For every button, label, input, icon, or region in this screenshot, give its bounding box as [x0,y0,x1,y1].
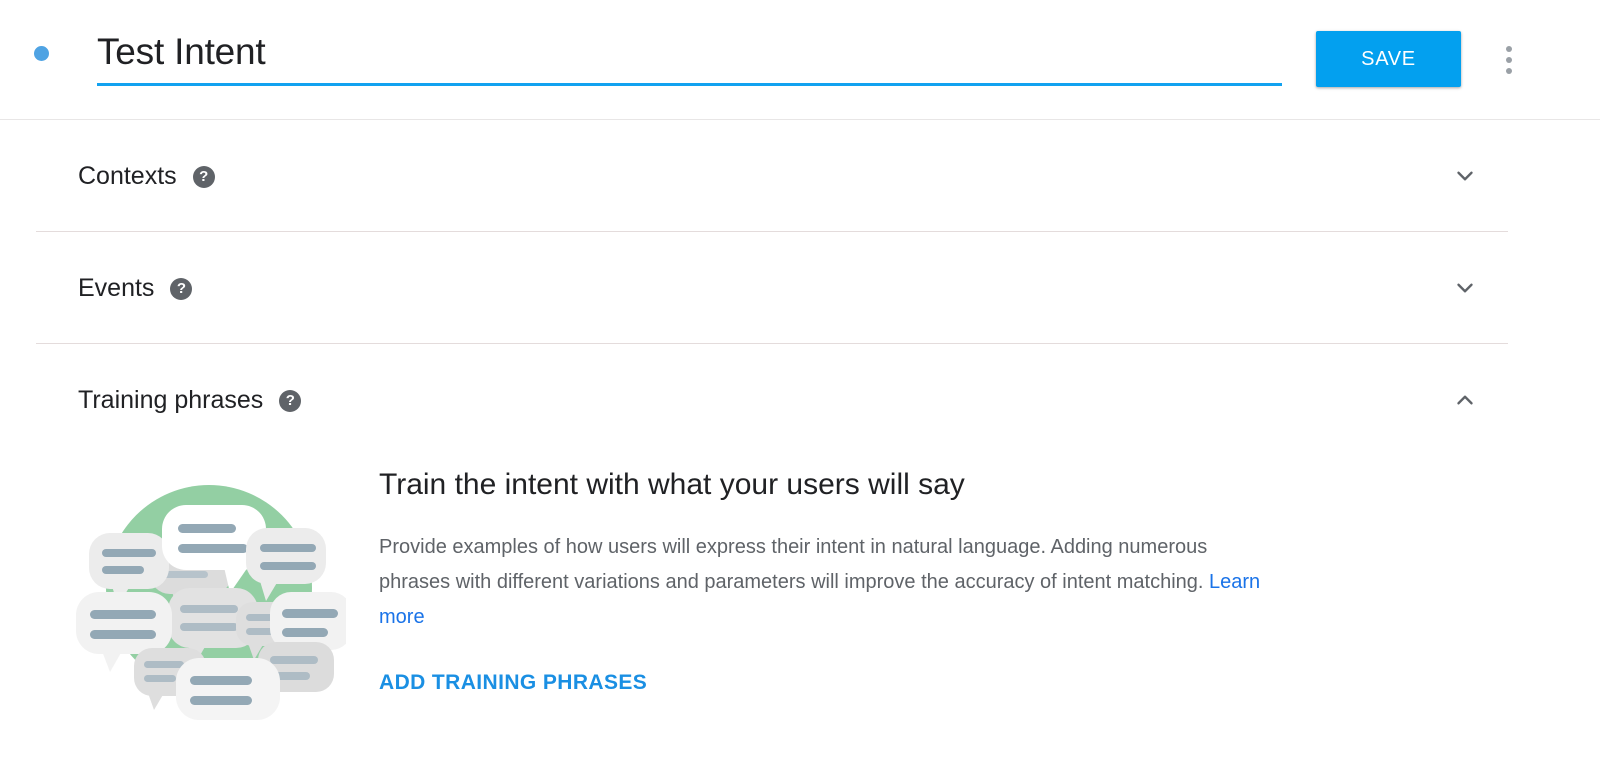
speech-bubbles-illustration [76,470,376,720]
section-contexts-title: Contexts [78,162,177,191]
intent-name-underline [97,83,1282,86]
section-events-title: Events [78,274,154,303]
intent-status-dot [34,46,49,61]
training-phrases-heading: Train the intent with what your users wi… [379,466,1269,504]
save-button[interactable]: SAVE [1316,31,1461,87]
section-training-phrases[interactable]: Training phrases ? [36,344,1508,456]
training-phrases-empty-state: Train the intent with what your users wi… [36,456,1564,720]
chevron-down-icon[interactable] [1452,163,1478,189]
section-training-phrases-head: Training phrases ? [78,344,301,456]
more-dot [1506,57,1512,63]
intent-name-input[interactable]: Test Intent [97,26,1282,78]
more-dot [1506,68,1512,74]
more-vert-icon[interactable] [1500,40,1518,80]
intent-header: Test Intent SAVE [0,0,1600,120]
help-icon[interactable]: ? [279,390,301,412]
section-events[interactable]: Events ? [36,232,1508,344]
more-dot [1506,46,1512,52]
add-training-phrases-button[interactable]: ADD TRAINING PHRASES [379,671,647,695]
training-phrases-description: Provide examples of how users will expre… [379,530,1269,635]
section-events-head: Events ? [78,232,192,344]
training-phrases-description-text: Provide examples of how users will expre… [379,536,1209,593]
chevron-down-icon[interactable] [1452,275,1478,301]
section-training-phrases-title: Training phrases [78,386,263,415]
training-phrases-copy: Train the intent with what your users wi… [379,460,1269,720]
help-icon[interactable]: ? [193,166,215,188]
intent-name-field-wrapper: Test Intent [97,26,1282,86]
help-icon[interactable]: ? [170,278,192,300]
section-contexts[interactable]: Contexts ? [36,120,1508,232]
section-contexts-head: Contexts ? [78,120,215,232]
chevron-up-icon[interactable] [1452,387,1478,413]
